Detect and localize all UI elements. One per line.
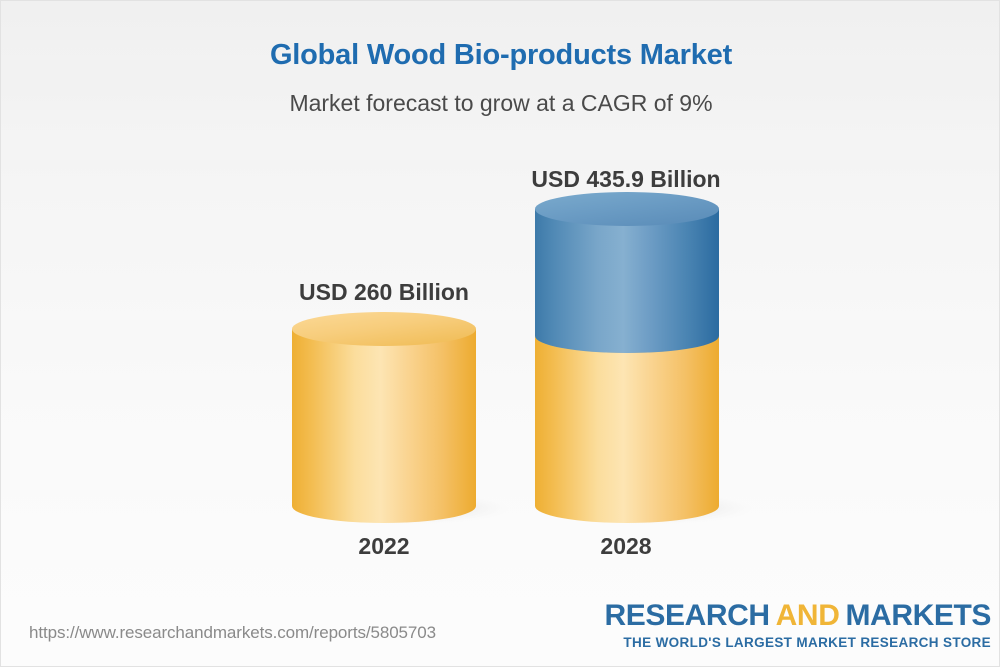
bar-2022 [271,301,511,551]
cylinder-top-blue-segment [535,192,719,226]
logo-word-markets: MARKETS [845,599,991,632]
brand-logo: RESEARCHANDMARKETS THE WORLD'S LARGEST M… [605,601,991,650]
plot-area: USD 260 Billion [1,1,1000,601]
category-label-2028: 2028 [476,533,776,560]
value-label-2028: USD 435.9 Billion [476,166,776,193]
logo-word-research: RESEARCH [605,599,770,632]
logo-wordmark: RESEARCHANDMARKETS [605,601,991,631]
logo-word-and: AND [776,599,840,632]
chart-card: Global Wood Bio-products Market Market f… [0,0,1000,667]
cylinder-body-yellow [292,329,476,523]
logo-tagline: THE WORLD'S LARGEST MARKET RESEARCH STOR… [605,635,991,650]
cylinder-body-blue-segment [535,209,719,353]
bar-2028 [514,191,754,551]
source-url[interactable]: https://www.researchandmarkets.com/repor… [29,623,436,643]
cylinder-body-yellow-segment [535,336,719,523]
cylinder-top-yellow [292,312,476,346]
